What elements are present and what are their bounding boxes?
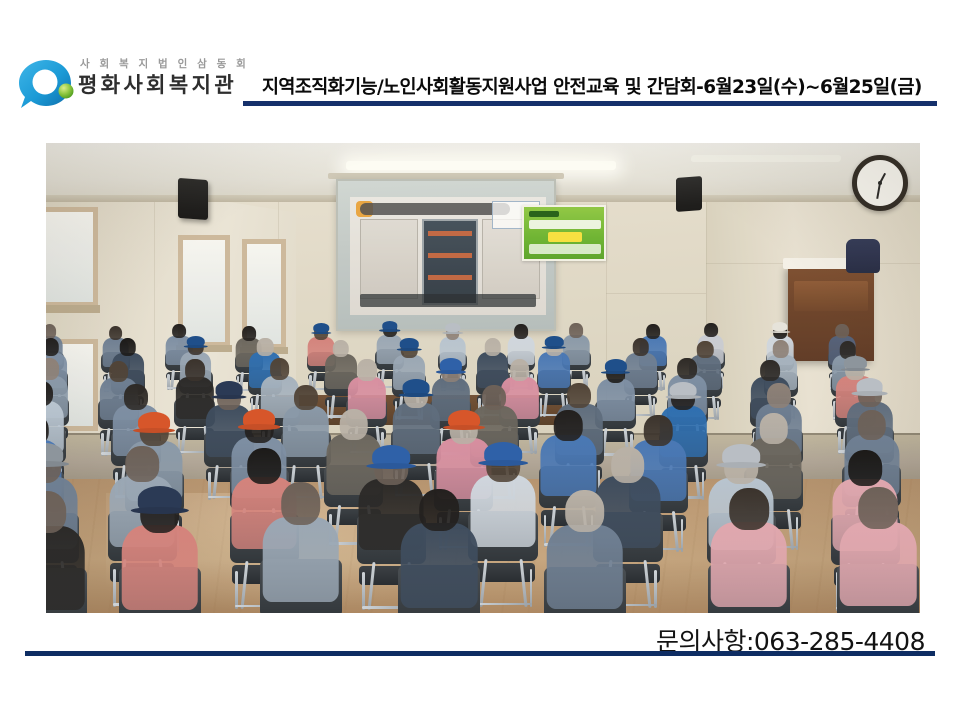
- seated-participant: [547, 490, 624, 613]
- seated-participant: [46, 491, 85, 613]
- participant-head: [514, 324, 528, 339]
- participant-head: [185, 359, 205, 380]
- slide-panel-left: [360, 219, 418, 299]
- participant-head: [772, 340, 789, 358]
- participant-hat: [46, 443, 64, 465]
- participant-head: [510, 359, 530, 380]
- header-divider: [243, 101, 937, 106]
- seated-participant: [262, 482, 339, 609]
- participant-head: [340, 409, 369, 439]
- slide-header: 사 회 복 지 법 인 삼 동 회 평화사회복지관 지역조직화기능/노인사회활동…: [0, 0, 960, 128]
- participant-hat: [382, 321, 397, 330]
- participant-head: [644, 415, 673, 445]
- seated-participant: [471, 446, 536, 554]
- participant-torso: [547, 525, 624, 609]
- participant-head: [858, 410, 887, 440]
- participant-head: [333, 340, 350, 358]
- presentation-slide: 사 회 복 지 법 인 삼 동 회 평화사회복지관 지역조직화기능/노인사회활동…: [0, 0, 960, 720]
- participant-head: [859, 487, 899, 529]
- participant-hat: [215, 381, 242, 397]
- participant-head: [172, 324, 186, 339]
- window-sill: [46, 305, 100, 313]
- participant-head: [109, 361, 129, 382]
- participant-torso: [711, 522, 788, 606]
- participant-head: [357, 359, 377, 380]
- participant-hat: [186, 336, 204, 347]
- participant-hat: [772, 322, 787, 331]
- participant-head: [294, 385, 318, 411]
- participant-hat: [373, 445, 411, 467]
- footer-divider: [25, 651, 935, 656]
- participant-torso: [541, 435, 596, 496]
- participant-head: [482, 385, 506, 411]
- ceiling-light: [691, 155, 842, 162]
- seated-participant: [401, 489, 478, 613]
- participant-head: [633, 338, 650, 356]
- participant-head: [646, 324, 660, 339]
- participant-head: [729, 488, 769, 530]
- participant-hat: [139, 412, 171, 431]
- participant-hat: [448, 410, 480, 429]
- participant-torso: [122, 525, 199, 609]
- ceiling-light: [346, 161, 616, 170]
- ceiling-speaker-icon: [676, 176, 702, 212]
- participant-head: [567, 383, 591, 409]
- participant-head: [570, 323, 584, 338]
- seated-participant: [122, 491, 199, 613]
- participant-head: [759, 413, 788, 443]
- participant-torso: [46, 526, 85, 610]
- window: [46, 207, 98, 307]
- participant-hat: [440, 358, 462, 371]
- participant-head: [281, 482, 321, 524]
- participant-head: [835, 324, 849, 339]
- participant-torso: [262, 517, 339, 601]
- participant-torso: [401, 523, 478, 607]
- participant-hat: [484, 442, 522, 464]
- participant-head: [554, 410, 583, 440]
- participant-hat: [400, 338, 418, 349]
- participant-head: [484, 338, 501, 356]
- logo-center-name: 평화사회복지관: [78, 71, 237, 99]
- participant-head: [46, 338, 59, 356]
- seated-participant: [711, 488, 788, 613]
- participant-head: [697, 341, 714, 359]
- participant-head: [419, 489, 459, 531]
- participant-hat: [670, 382, 697, 398]
- backpack: [846, 239, 880, 273]
- participant-hat: [844, 356, 866, 369]
- participant-head: [125, 446, 159, 482]
- logo-org-line: 사 회 복 지 법 인 삼 동 회: [80, 56, 255, 72]
- ceiling-speaker-icon: [178, 178, 208, 220]
- participant-hat: [856, 378, 883, 394]
- participant-head: [611, 447, 645, 483]
- participant-head: [565, 490, 605, 532]
- participant-hat: [545, 336, 563, 347]
- slide-appliance-graphic: [422, 219, 478, 305]
- wall-clock-icon: [852, 155, 908, 211]
- slide-caption-bar: [360, 294, 536, 307]
- participant-head: [761, 360, 781, 381]
- participant-head: [704, 323, 718, 338]
- participant-torso: [471, 475, 536, 547]
- participant-hat: [138, 486, 182, 512]
- seated-participant: [541, 410, 596, 501]
- participant-hat: [445, 323, 460, 332]
- participant-head: [247, 448, 281, 484]
- participant-head: [120, 338, 137, 356]
- participant-head: [270, 358, 290, 379]
- participant-head: [46, 324, 57, 339]
- participant-torso: [840, 522, 917, 606]
- logo-wordmark: 사 회 복 지 법 인 삼 동 회 평화사회복지관: [80, 56, 255, 72]
- logo-ring-icon: [16, 58, 78, 110]
- participant-hat: [243, 409, 275, 428]
- participant-hat: [604, 359, 626, 372]
- participant-hat: [403, 379, 430, 395]
- page-title: 지역조직화기능/노인사회활동지원사업 안전교육 및 간담회-6월23일(수)~6…: [262, 73, 922, 99]
- wall-seam: [606, 293, 706, 294]
- participant-head: [677, 358, 697, 379]
- participant-hat: [723, 444, 761, 466]
- participant-head: [124, 384, 148, 410]
- slide-title-bar: [360, 203, 510, 215]
- participant-head: [257, 338, 274, 356]
- seated-participant: [840, 487, 917, 613]
- event-photo: [46, 143, 920, 613]
- participant-head: [767, 383, 791, 409]
- participant-head: [46, 358, 59, 379]
- organization-logo: 사 회 복 지 법 인 삼 동 회 평화사회복지관: [16, 56, 251, 118]
- projected-slide: [350, 197, 546, 315]
- participant-head: [849, 450, 883, 486]
- wall-banner: [522, 205, 606, 261]
- participant-hat: [314, 323, 329, 332]
